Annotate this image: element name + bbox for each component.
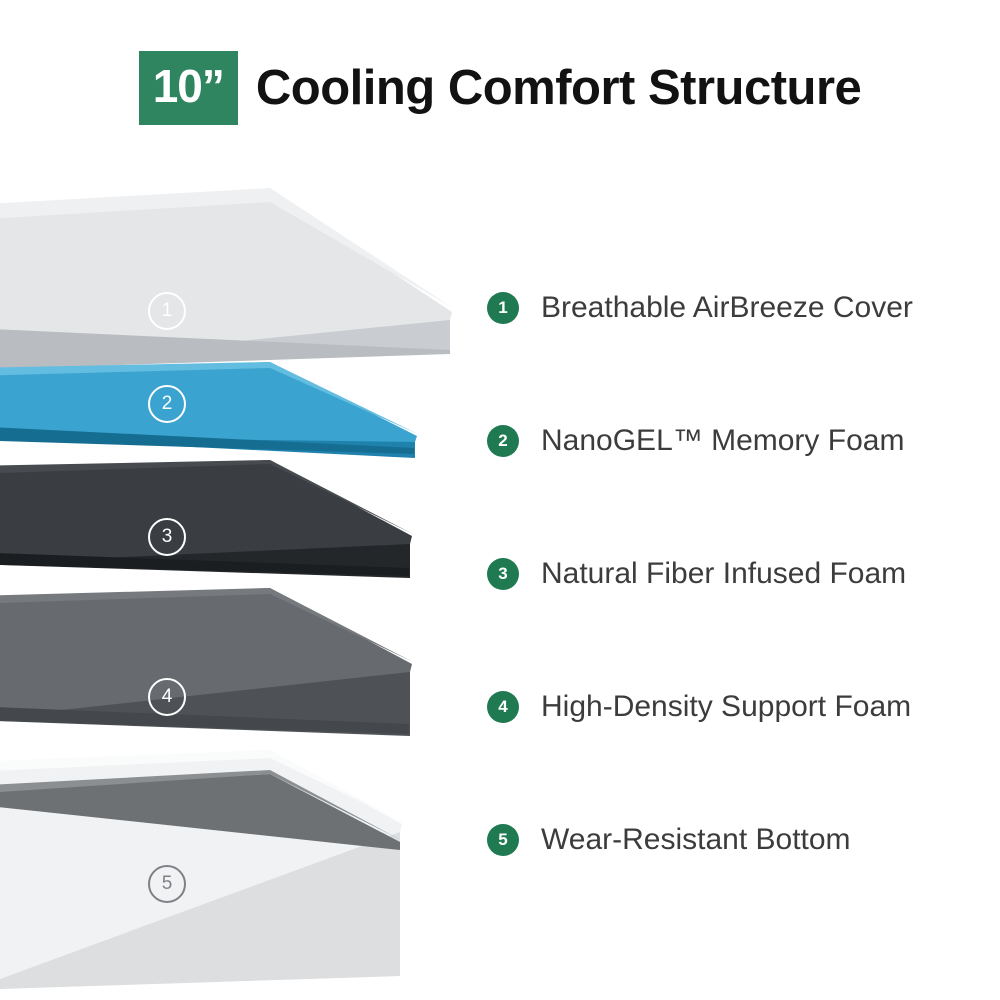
legend-label-2: NanoGEL™ Memory Foam [541,424,904,458]
thickness-badge: 10” [139,51,238,125]
legend-label-1: Breathable AirBreeze Cover [541,291,913,325]
layer-marker-3: 3 [148,518,186,556]
legend-item-4: 4 High-Density Support Foam [487,684,987,729]
legend-label-5: Wear-Resistant Bottom [541,823,851,857]
layer-5-wear-resistant-bottom [0,740,440,1000]
layer-4-high-density-support-foam [0,588,440,753]
layer-marker-4: 4 [148,678,186,716]
legend-badge-3: 3 [487,558,519,590]
mattress-layer-stack: 1 2 3 4 [0,170,470,1000]
layer-1-breathable-airbreeze-cover [0,180,480,375]
legend-item-1: 1 Breathable AirBreeze Cover [487,285,987,330]
layer-3-natural-fiber-infused-foam [0,460,440,600]
legend-item-3: 3 Natural Fiber Infused Foam [487,551,987,596]
legend-badge-5: 5 [487,824,519,856]
layer-marker-5: 5 [148,865,186,903]
legend-badge-4: 4 [487,691,519,723]
page-title: Cooling Comfort Structure [256,60,861,116]
legend-item-2: 2 NanoGEL™ Memory Foam [487,418,987,463]
legend-label-4: High-Density Support Foam [541,690,911,724]
page-header: 10” Cooling Comfort Structure [0,38,1000,138]
layer-marker-2: 2 [148,385,186,423]
legend-label-3: Natural Fiber Infused Foam [541,557,906,591]
layer-2-nanogel-memory-foam [0,362,450,472]
layer-marker-1: 1 [148,292,186,330]
legend-list: 1 Breathable AirBreeze Cover 2 NanoGEL™ … [487,285,987,950]
legend-badge-1: 1 [487,292,519,324]
legend-item-5: 5 Wear-Resistant Bottom [487,817,987,862]
legend-badge-2: 2 [487,425,519,457]
